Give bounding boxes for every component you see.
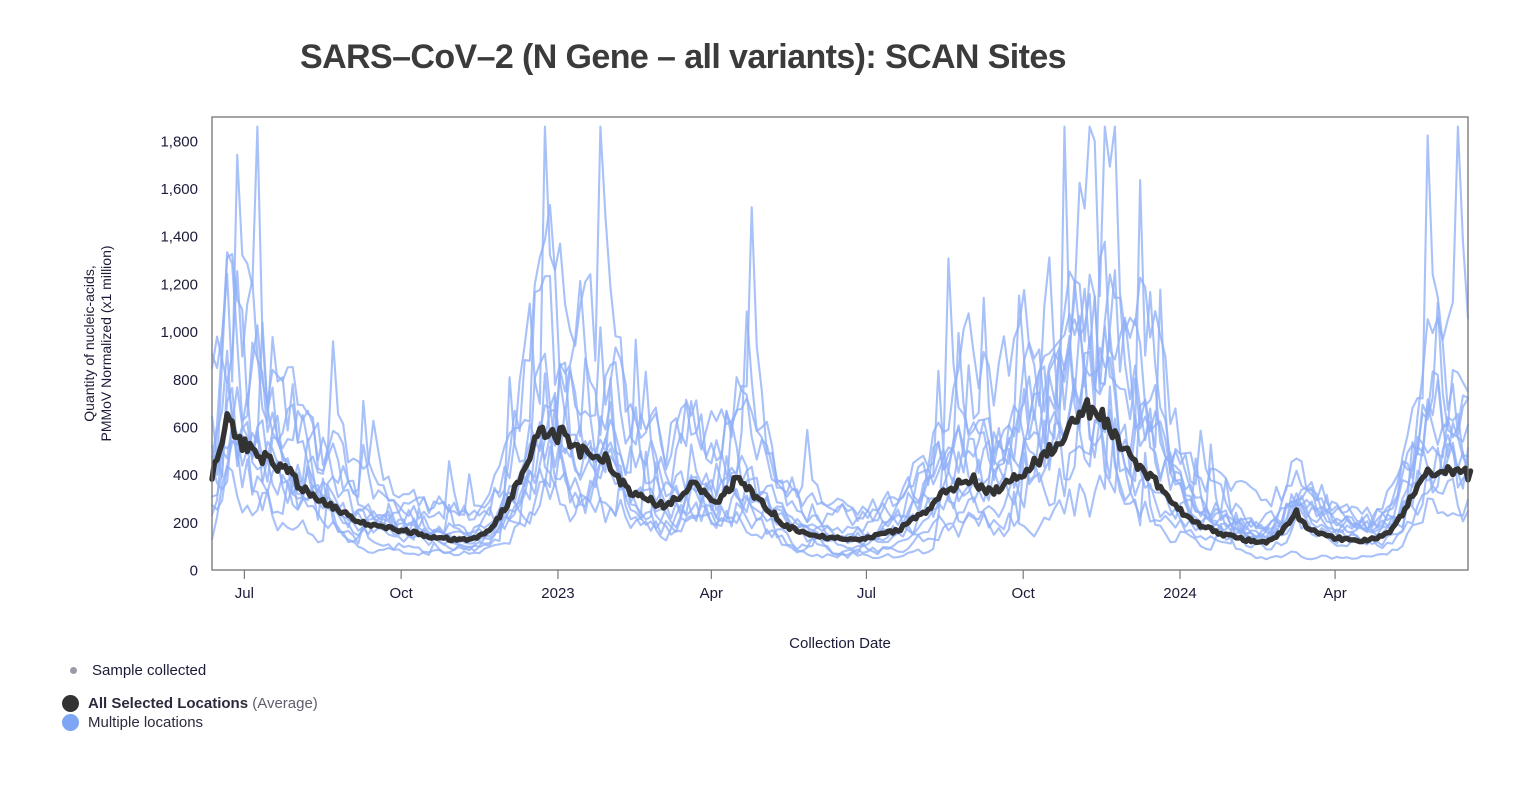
y-tick-label: 1,200 [160,276,198,293]
y-axis-title-line2: PMMoV Normalized (x1 million) [98,245,114,441]
y-tick-label: 600 [173,419,198,436]
y-tick-label: 1,000 [160,324,198,341]
legend-label-average-suffix: (Average) [248,695,318,712]
x-tick-label: 2023 [541,585,574,602]
x-tick-label: Apr [700,585,723,602]
x-tick-label: Oct [1012,585,1036,602]
x-tick-label: Jul [235,585,254,602]
y-tick-label: 800 [173,372,198,389]
chart-legend: Sample collected All Selected Locations … [62,662,318,733]
x-tick-label: Jul [857,585,876,602]
plot-frame [212,117,1468,570]
y-tick-label: 1,600 [160,181,198,198]
x-tick-label: Oct [389,585,413,602]
legend-item-all-selected-locations[interactable]: All Selected Locations (Average) [62,695,318,712]
x-axis-title: Collection Date [789,635,891,652]
legend-label-multiple-locations: Multiple locations [88,714,203,731]
y-axis-title-line1: Quantity of nucleic-acids, [81,265,97,421]
x-tick-label: 2024 [1163,585,1196,602]
legend-item-sample-collected[interactable]: Sample collected [70,662,318,679]
y-tick-label: 1,800 [160,133,198,150]
y-axis: 02004006008001,0001,2001,4001,6001,800 [160,133,198,579]
x-tick-label: Apr [1323,585,1346,602]
x-axis: JulOct2023AprJulOct2024Apr [235,570,1347,602]
legend-label-sample-collected: Sample collected [92,662,206,679]
average-dot-icon [62,695,79,712]
legend-label-average: All Selected Locations (Average) [88,695,318,712]
sample-dot-icon [70,667,77,674]
y-tick-label: 200 [173,515,198,532]
y-tick-label: 1,400 [160,229,198,246]
legend-label-average-strong: All Selected Locations [88,695,248,712]
multiple-locations-dot-icon [62,714,79,731]
y-tick-label: 0 [190,563,198,580]
legend-item-multiple-locations[interactable]: Multiple locations [62,714,318,731]
y-tick-label: 400 [173,467,198,484]
